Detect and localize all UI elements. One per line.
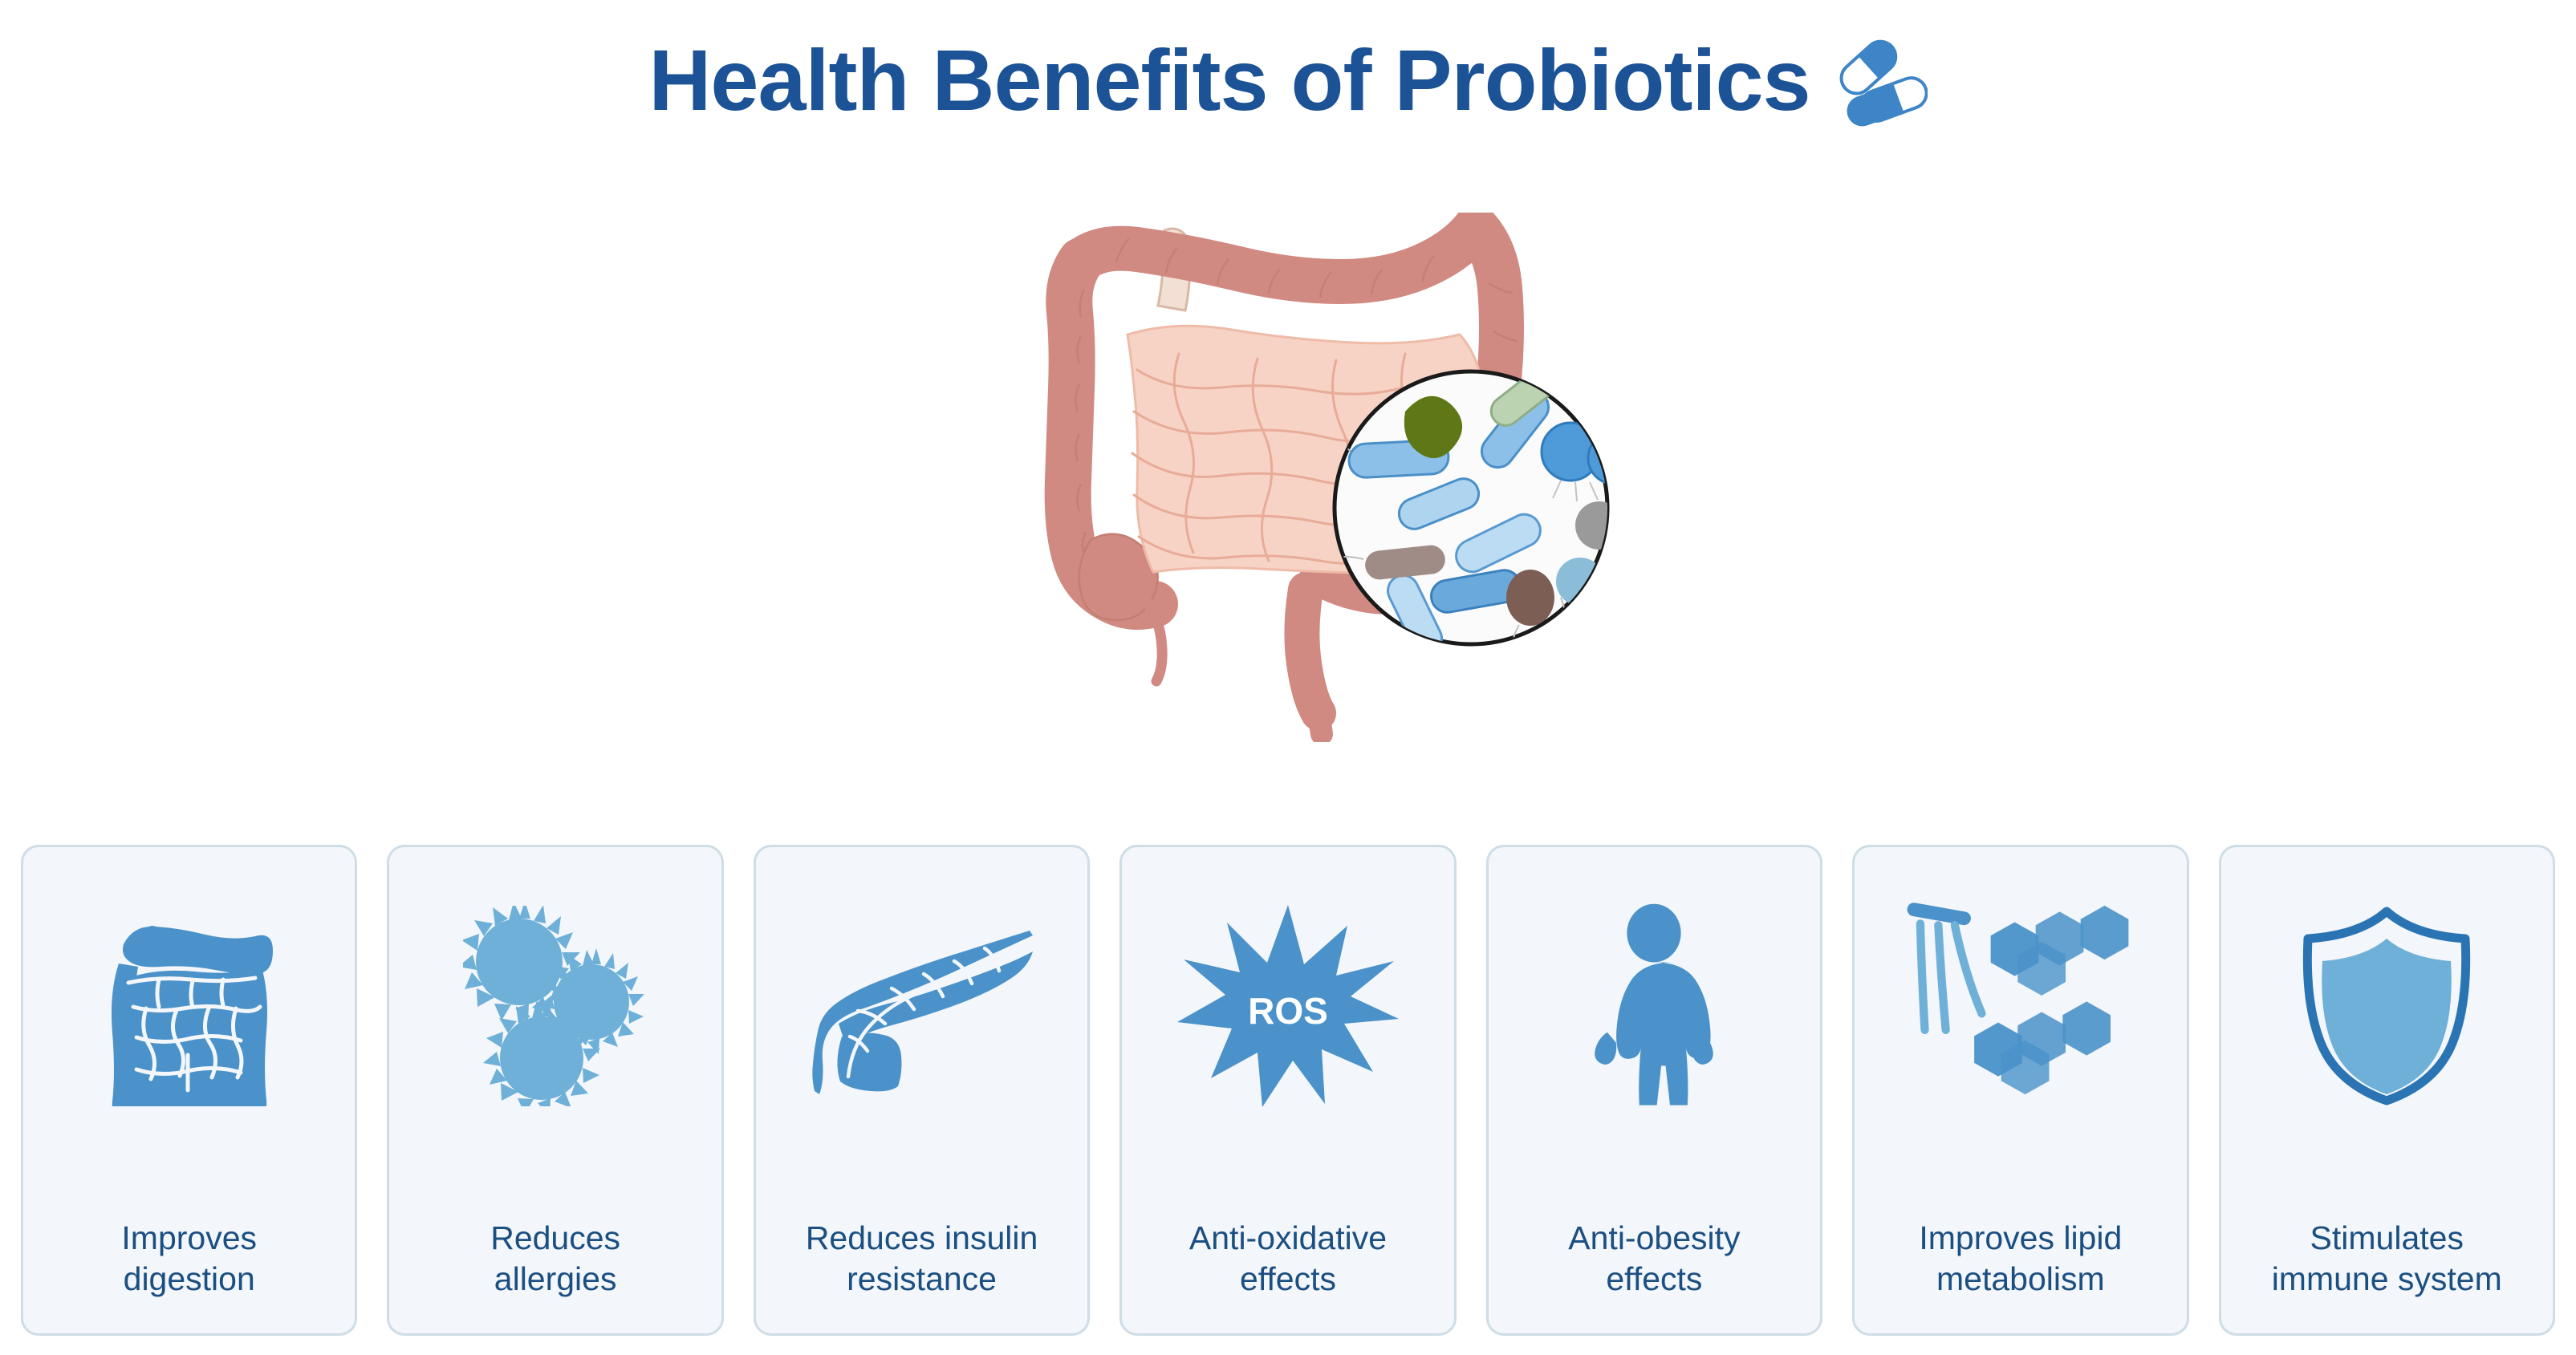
- benefit-label: Improvesdigestion: [31, 1218, 347, 1300]
- ros-label: ROS: [1248, 990, 1328, 1032]
- pills-icon: [1831, 39, 1928, 127]
- benefit-label: Stimulatesimmune system: [2229, 1218, 2545, 1300]
- obese-person-icon: [1500, 886, 1809, 1126]
- page-header: Health Benefits of Probiotics: [0, 0, 2576, 160]
- hero-illustration: [1007, 213, 1729, 742]
- benefit-label: Reduces insulinresistance: [764, 1218, 1079, 1300]
- intestine-icon: [35, 886, 343, 1126]
- page-title: Health Benefits of Probiotics: [648, 37, 1810, 124]
- benefit-label: Anti-oxidativeeffects: [1130, 1218, 1445, 1300]
- benefits-card-row: Improvesdigestion: [21, 845, 2555, 1336]
- benefit-label: Reducesallergies: [397, 1218, 713, 1300]
- triglyceride-icon: [1906, 902, 1981, 1030]
- coccus-gray: [1575, 501, 1623, 550]
- coccus-brown: [1506, 570, 1554, 655]
- benefit-card-stimulates-immune-system[interactable]: Stimulatesimmune system: [2219, 845, 2555, 1336]
- ros-burst-icon: ROS: [1133, 886, 1442, 1126]
- hexagon-chain-upper: [1990, 906, 2128, 996]
- shield-icon: [2233, 886, 2541, 1126]
- pancreas-icon: [767, 886, 1076, 1126]
- intestine-with-microbiota-magnifier: [1007, 213, 1729, 742]
- benefit-card-anti-obesity-effects[interactable]: Anti-obesityeffects: [1486, 845, 1822, 1336]
- benefit-label: Anti-obesityeffects: [1497, 1218, 1812, 1300]
- benefit-card-anti-oxidative-effects[interactable]: ROS Anti-oxidativeeffects: [1119, 845, 1456, 1336]
- lipid-molecule-icon: [1866, 886, 2175, 1126]
- benefit-card-improves-digestion[interactable]: Improvesdigestion: [21, 845, 357, 1336]
- benefit-card-improves-lipid-metabolism[interactable]: Improves lipidmetabolism: [1852, 845, 2188, 1336]
- benefit-label: Improves lipidmetabolism: [1863, 1218, 2178, 1300]
- benefit-card-reduces-insulin-resistance[interactable]: Reduces insulinresistance: [754, 845, 1090, 1336]
- benefit-card-reduces-allergies[interactable]: Reducesallergies: [387, 845, 723, 1336]
- allergen-particles-icon: [400, 886, 709, 1126]
- hexagon-chain-lower: [1974, 1001, 2111, 1094]
- magnified-gut-bacteria-circle: [1331, 366, 1639, 659]
